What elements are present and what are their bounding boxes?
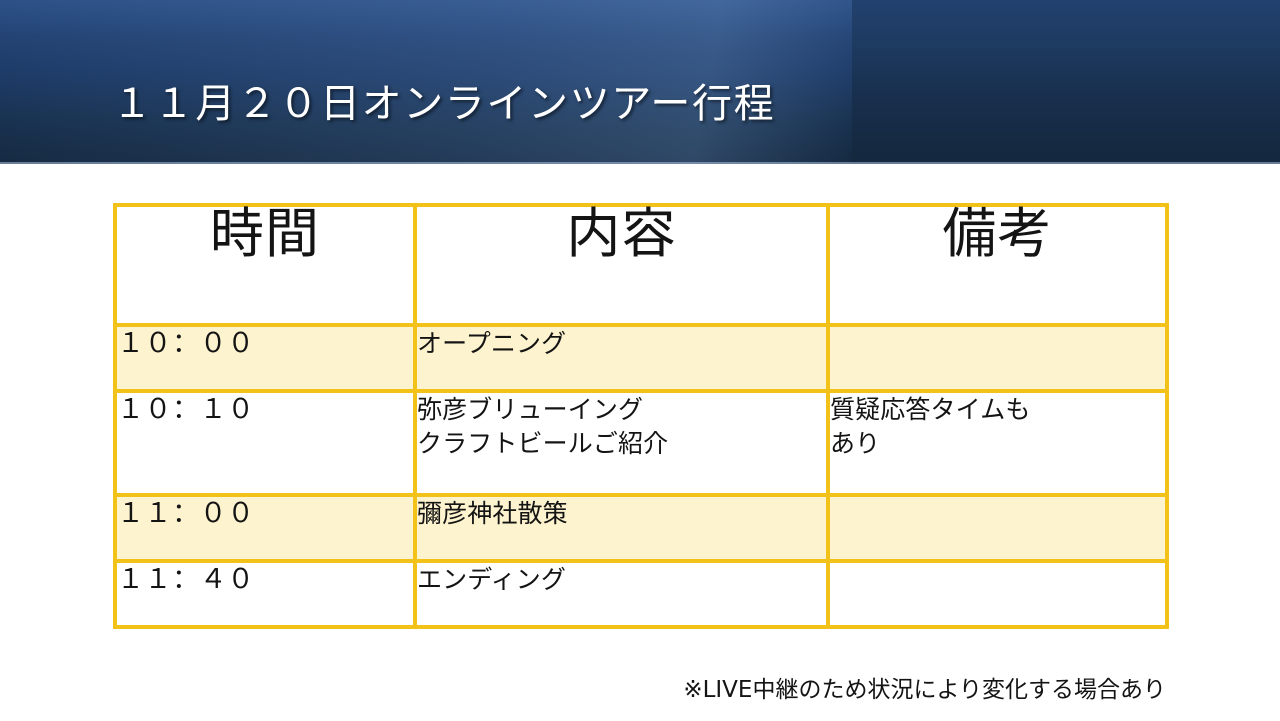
banner-bottom-rule: [0, 162, 1280, 164]
cell-time: １０：００: [115, 325, 415, 391]
cell-time: １１：４０: [115, 561, 415, 627]
column-header-time: 時間: [115, 205, 415, 325]
cell-note: [828, 495, 1167, 561]
cell-note: 質疑応答タイムも あり: [828, 391, 1167, 495]
time-value: １１：００: [117, 497, 413, 531]
cell-time: １０：１０: [115, 391, 415, 495]
column-header-note: 備考: [828, 205, 1167, 325]
cell-detail: 弥彦ブリューイング クラフトビールご紹介: [415, 391, 828, 495]
note-value: 質疑応答タイムも あり: [830, 393, 1165, 461]
cell-note: [828, 325, 1167, 391]
table-row: １１：４０ エンディング: [115, 561, 1167, 627]
detail-value: エンディング: [417, 563, 826, 597]
column-header-detail-label: 内容: [417, 207, 826, 261]
table-row: １１：００ 彌彦神社散策: [115, 495, 1167, 561]
cell-detail: エンディング: [415, 561, 828, 627]
cell-detail: オープニング: [415, 325, 828, 391]
column-header-detail: 内容: [415, 205, 828, 325]
itinerary-table-container: 時間 内容 備考 １０：００ オープニング: [113, 203, 1165, 629]
table-row: １０：００ オープニング: [115, 325, 1167, 391]
time-value: １１：４０: [117, 563, 413, 597]
table-row: １０：１０ 弥彦ブリューイング クラフトビールご紹介 質疑応答タイムも あり: [115, 391, 1167, 495]
cell-note: [828, 561, 1167, 627]
time-value: １０：００: [117, 327, 413, 361]
column-header-note-label: 備考: [830, 207, 1165, 261]
itinerary-table: 時間 内容 備考 １０：００ オープニング: [113, 203, 1169, 629]
page-title: １１月２０日オンラインツアー行程: [112, 81, 872, 127]
slide-canvas: １１月２０日オンラインツアー行程 時間 内容 備考: [0, 0, 1280, 721]
table-header-row: 時間 内容 備考: [115, 205, 1167, 325]
detail-value: オープニング: [417, 327, 826, 361]
footer-disclaimer: ※LIVE中継のため状況により変化する場合あり: [0, 676, 1166, 706]
detail-value: 弥彦ブリューイング クラフトビールご紹介: [417, 393, 826, 461]
cell-time: １１：００: [115, 495, 415, 561]
time-value: １０：１０: [117, 393, 413, 427]
detail-value: 彌彦神社散策: [417, 497, 826, 531]
banner-dark-panel: [852, 0, 1280, 164]
column-header-time-label: 時間: [117, 207, 413, 261]
cell-detail: 彌彦神社散策: [415, 495, 828, 561]
